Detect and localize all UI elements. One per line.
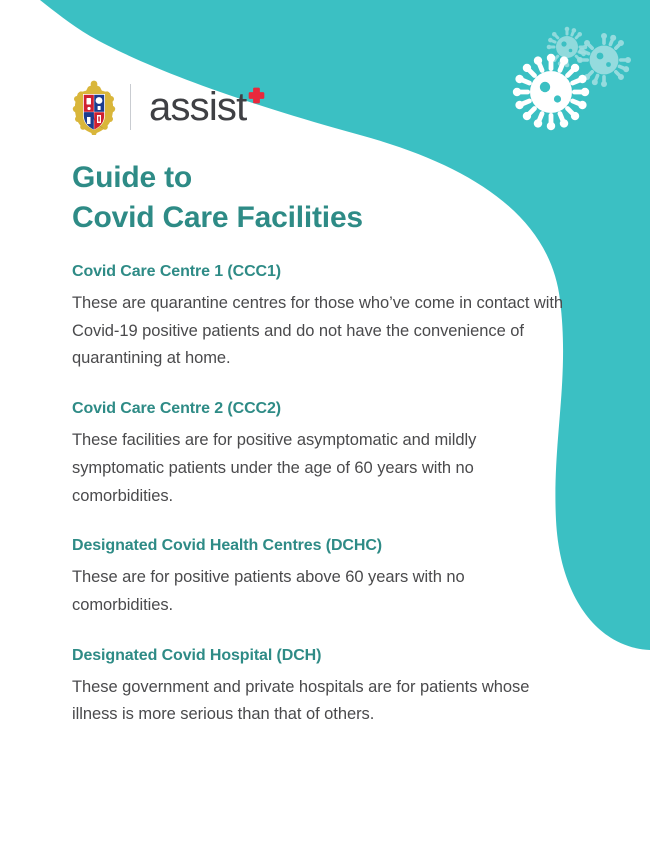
logo-divider: [130, 84, 131, 130]
facility-section-dch: Designated Covid Hospital (DCH) These go…: [72, 646, 572, 729]
section-heading: Covid Care Centre 1 (CCC1): [72, 262, 572, 282]
section-heading: Designated Covid Health Centres (DCHC): [72, 536, 572, 556]
page-title-line-2: Covid Care Facilities: [72, 198, 542, 238]
section-body: These facilities are for positive asympt…: [72, 427, 570, 510]
virus-large-icon: [497, 38, 605, 146]
poster-page: assist Guide to Covid Care Facilities Co…: [0, 0, 650, 850]
section-heading: Covid Care Centre 2 (CCC2): [72, 399, 572, 419]
section-body: These are for positive patients above 60…: [72, 564, 570, 619]
page-title: Guide to Covid Care Facilities: [72, 158, 542, 237]
section-body: These are quarantine centres for those w…: [72, 290, 570, 373]
section-body: These government and private hospitals a…: [72, 674, 570, 729]
red-medical-cross-icon: [248, 87, 265, 104]
page-title-line-1: Guide to: [72, 158, 542, 198]
virus-medium-icon: [566, 22, 642, 98]
section-heading: Designated Covid Hospital (DCH): [72, 646, 572, 666]
virus-small-icon: [538, 18, 595, 75]
brand-wordmark-group: assist: [149, 84, 265, 130]
brand-logo-lockup[interactable]: assist: [72, 78, 265, 136]
facility-section-ccc1: Covid Care Centre 1 (CCC1) These are qua…: [72, 262, 572, 373]
facility-section-ccc2: Covid Care Centre 2 (CCC2) These facilit…: [72, 399, 572, 510]
facility-section-dchc: Designated Covid Health Centres (DCHC) T…: [72, 536, 572, 619]
facility-sections-list: Covid Care Centre 1 (CCC1) These are qua…: [72, 262, 572, 729]
coat-of-arms-crest-icon: [72, 79, 116, 135]
brand-wordmark: assist: [149, 84, 246, 130]
